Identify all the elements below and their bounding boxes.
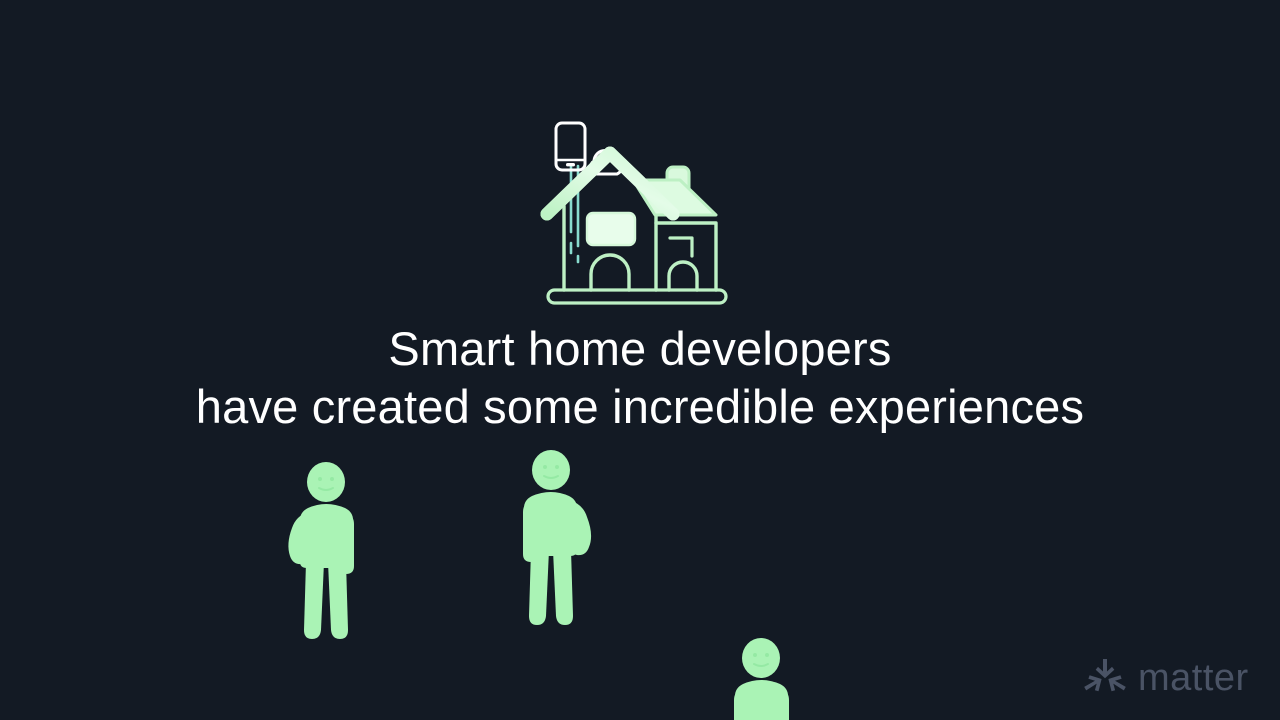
person-head xyxy=(307,462,345,502)
person-arm-right xyxy=(773,688,789,720)
headline-line-2: have created some incredible experiences xyxy=(0,378,1280,436)
side-door-icon xyxy=(669,262,697,290)
smart-home-icon xyxy=(530,110,740,315)
person-leg-left xyxy=(304,562,324,639)
phone-icon xyxy=(556,123,585,170)
person-leg-right xyxy=(529,550,549,625)
door-icon xyxy=(591,255,629,290)
ground-bar xyxy=(548,290,726,303)
house-right-wing xyxy=(656,223,716,290)
person-leg-left xyxy=(553,550,573,625)
slide-canvas: Smart home developers have created some … xyxy=(0,0,1280,720)
person-middle xyxy=(499,450,595,626)
person-head xyxy=(532,450,570,490)
matter-converging-arrows-icon xyxy=(1082,655,1128,701)
headline-line-1: Smart home developers xyxy=(0,320,1280,378)
person-left xyxy=(282,462,368,642)
window-icon xyxy=(587,213,635,245)
matter-logo: matter xyxy=(1082,655,1249,701)
person-arm-left xyxy=(734,688,750,720)
roof-icon xyxy=(547,153,716,215)
matter-wordmark: matter xyxy=(1138,659,1249,697)
page-title: Smart home developers have created some … xyxy=(0,320,1280,436)
person-leg-right xyxy=(328,562,348,639)
person-right-partial xyxy=(722,636,800,720)
person-head xyxy=(742,638,780,678)
